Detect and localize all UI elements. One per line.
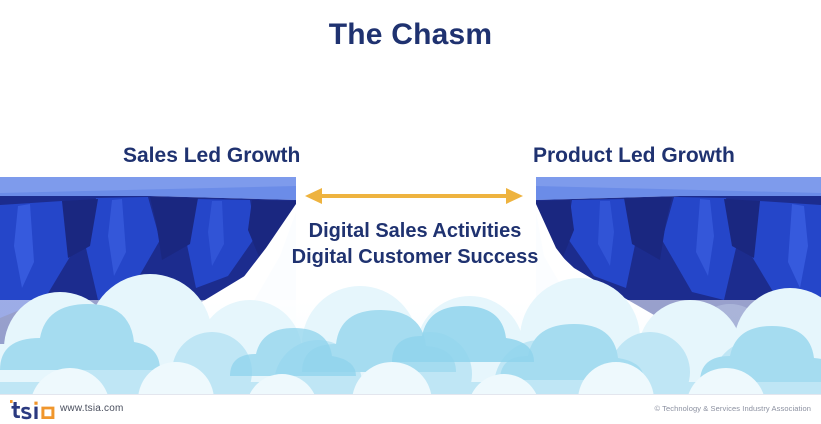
tsia-logo-icon xyxy=(8,398,60,420)
chasm-activities-line-2: Digital Customer Success xyxy=(230,244,600,270)
chasm-illustration xyxy=(0,0,821,424)
chasm-activities-line-1: Digital Sales Activities xyxy=(230,218,600,244)
slide-canvas: The Chasm Sales Led Growth Product Led G… xyxy=(0,0,821,424)
footer-copyright: © Technology & Services Industry Associa… xyxy=(654,404,811,413)
footer-divider xyxy=(0,394,821,395)
left-cliff-label: Sales Led Growth xyxy=(123,144,300,167)
page-title: The Chasm xyxy=(0,18,821,51)
footer-url[interactable]: www.tsia.com xyxy=(60,403,124,414)
right-cliff-label: Product Led Growth xyxy=(533,144,735,167)
double-headed-arrow-icon xyxy=(305,182,523,210)
slide-footer: www.tsia.com © Technology & Services Ind… xyxy=(0,394,821,424)
chasm-activities-text: Digital Sales Activities Digital Custome… xyxy=(230,218,600,271)
